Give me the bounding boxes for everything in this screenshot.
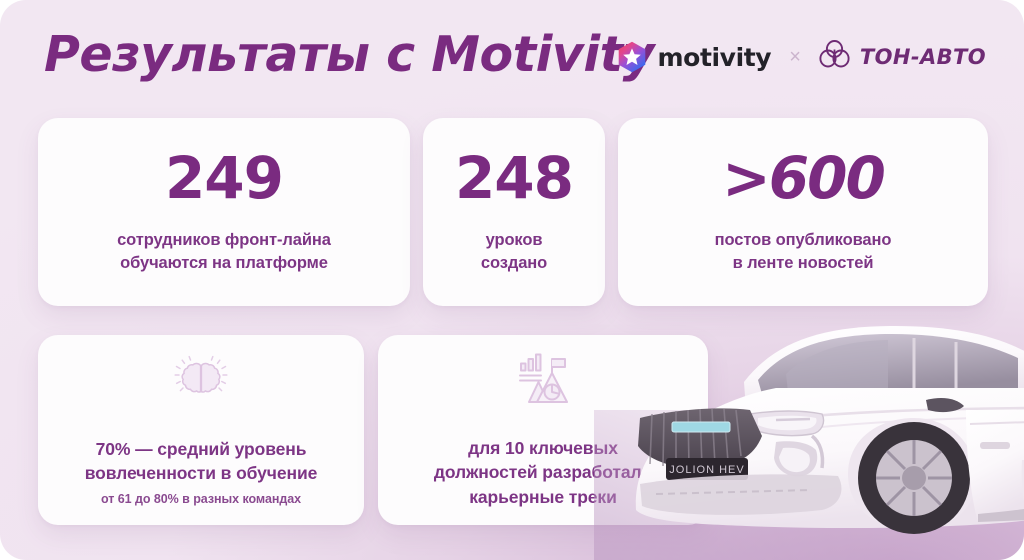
brain-icon bbox=[174, 354, 228, 411]
caption-line-2: создано bbox=[481, 254, 547, 272]
caption-line-2: в ленте новостей bbox=[733, 254, 874, 272]
caption-line-1: 70% — средний уровень bbox=[96, 439, 307, 459]
caption-line-1: для 10 ключевых bbox=[468, 438, 618, 458]
trefoil-rings-icon bbox=[819, 40, 850, 74]
stat-number: 249 bbox=[165, 149, 283, 207]
caption-line-1: сотрудников фронт-лайна bbox=[117, 231, 331, 249]
ton-avto-wordmark: ТОН-АВТО bbox=[860, 45, 986, 69]
infographic-banner: Результаты с Motivity bbox=[0, 0, 1024, 560]
motivity-wordmark: motivity bbox=[658, 43, 772, 72]
stat-subcaption: от 61 до 80% в разных командах bbox=[101, 492, 301, 506]
stat-card-posts: >600 постов опубликовано в ленте новосте… bbox=[618, 118, 988, 306]
caption-line-2: обучаются на платформе bbox=[120, 254, 328, 272]
logo-group: motivity × ТОН-АВТО bbox=[617, 40, 986, 74]
stat-number: >600 bbox=[722, 149, 884, 207]
page-title: Результаты с Motivity bbox=[44, 26, 654, 83]
hexagon-star-icon bbox=[617, 41, 647, 73]
caption-line-3: карьерные треки bbox=[469, 487, 616, 507]
stat-caption: 70% — средний уровень вовлеченности в об… bbox=[85, 437, 318, 485]
stat-card-engagement: 70% — средний уровень вовлеченности в об… bbox=[38, 335, 364, 525]
stat-card-lessons: 248 уроков создано bbox=[423, 118, 605, 306]
stat-card-career-tracks: для 10 ключевых должностей разработали к… bbox=[378, 335, 708, 525]
motivity-logo: motivity bbox=[617, 41, 772, 73]
stat-caption: постов опубликовано в ленте новостей bbox=[715, 229, 892, 275]
caption-line-1: уроков bbox=[486, 231, 543, 249]
caption-line-2: вовлеченности в обучение bbox=[85, 463, 318, 483]
caption-line-2: должностей разработали bbox=[434, 462, 652, 482]
logo-separator-x: × bbox=[789, 46, 801, 69]
caption-line-1: постов опубликовано bbox=[715, 231, 892, 249]
career-growth-chart-icon bbox=[511, 351, 575, 410]
stat-card-employees: 249 сотрудников фронт-лайна обучаются на… bbox=[38, 118, 410, 306]
stat-caption: уроков создано bbox=[481, 229, 547, 275]
stat-caption: сотрудников фронт-лайна обучаются на пла… bbox=[117, 229, 331, 275]
header: Результаты с Motivity bbox=[44, 28, 994, 94]
stat-caption: для 10 ключевых должностей разработали к… bbox=[434, 436, 652, 508]
stat-number: 248 bbox=[455, 149, 573, 207]
ton-avto-logo: ТОН-АВТО bbox=[819, 40, 986, 74]
